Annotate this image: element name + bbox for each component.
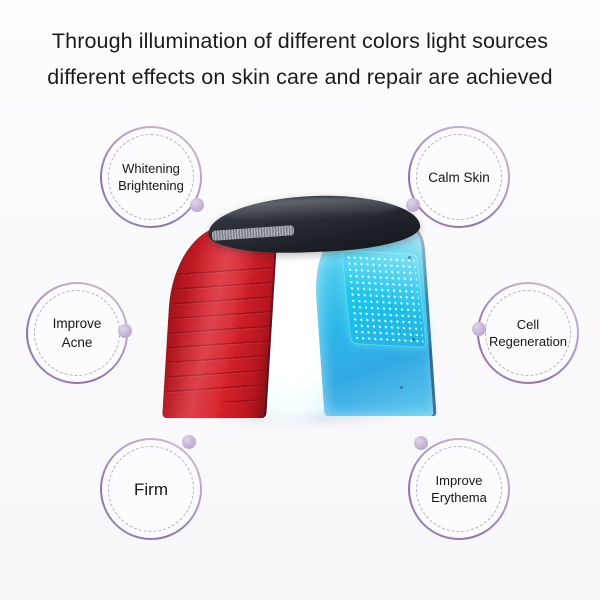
- page-title: Through illumination of different colors…: [0, 26, 600, 93]
- headline-line-1: Through illumination of different colors…: [0, 26, 600, 57]
- badge-label-line-1: Improve: [53, 314, 102, 333]
- badge-label-line-1: Whitening: [122, 160, 180, 177]
- headline-line-2: different effects on skin care and repai…: [0, 62, 600, 93]
- feature-badge-cell-regeneration[interactable]: Cell Regeneration: [477, 282, 579, 384]
- badge-label-line-1: Calm Skin: [428, 168, 490, 187]
- badge-label: Improve Erythema: [408, 438, 510, 540]
- feature-badge-calm-skin[interactable]: Calm Skin: [408, 126, 510, 228]
- device-left-panel-highlight: [162, 226, 278, 418]
- feature-badge-improve-acne[interactable]: Improve Acne: [26, 282, 128, 384]
- badge-label-line-2: Erythema: [431, 489, 487, 506]
- badge-label: Whitening Brightening: [100, 126, 202, 228]
- product-feature-poster: Through illumination of different colors…: [0, 0, 600, 600]
- feature-badge-firm[interactable]: Firm: [100, 438, 202, 540]
- panel-screw: [412, 338, 415, 341]
- badge-label-line-2: Brightening: [118, 177, 184, 194]
- panel-screw: [408, 256, 411, 259]
- feature-badge-whitening[interactable]: Whitening Brightening: [100, 126, 202, 228]
- badge-label-line-2: Acne: [62, 333, 93, 352]
- badge-label-line-1: Improve: [436, 472, 483, 489]
- feature-badge-improve-erythema[interactable]: Improve Erythema: [408, 438, 510, 540]
- badge-label-line-1: Firm: [134, 480, 168, 499]
- badge-label: Improve Acne: [26, 282, 128, 384]
- badge-label: Firm: [100, 438, 202, 540]
- badge-label: Cell Regeneration: [477, 282, 579, 384]
- badge-label-line-1: Cell: [517, 316, 539, 333]
- led-panel-sheen: [341, 250, 427, 348]
- led-light-array: [341, 250, 427, 348]
- badge-label: Calm Skin: [408, 126, 510, 228]
- badge-label-line-2: Regeneration: [489, 333, 567, 350]
- panel-screw: [400, 386, 403, 389]
